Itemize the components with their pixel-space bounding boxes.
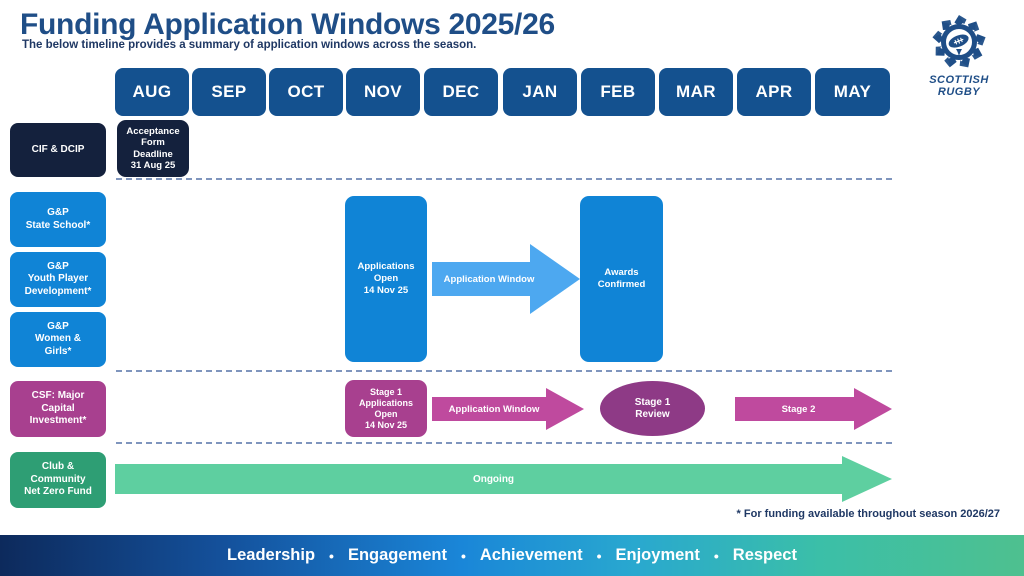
csf-stage1-review-line-2: Review (635, 409, 669, 420)
gp-awards-confirmed-box[interactable]: Awards Confirmed (580, 196, 663, 362)
acceptance-form-deadline-box[interactable]: Acceptance Form Deadline 31 Aug 25 (117, 120, 189, 177)
acceptance-line-2: Form (141, 137, 165, 148)
sidebar-label-gp-ypd-l3: Development* (25, 286, 92, 297)
gp-applications-open-line-1: Applications (357, 261, 414, 272)
acceptance-line-3: Deadline (133, 149, 173, 160)
sidebar-label-csf-l1: CSF: Major (32, 390, 85, 401)
gp-awards-confirmed-line-1: Awards (604, 267, 638, 278)
csf-stage1-line-3: Open (374, 409, 397, 419)
sidebar-label-gp-wg-l2: Women & (35, 333, 81, 344)
slide-canvas: Funding Application Windows 2025/26 The … (0, 0, 1024, 576)
csf-stage1-review-ellipse[interactable]: Stage 1 Review (600, 381, 705, 436)
footer-value-achievement: Achievement (480, 546, 583, 565)
footer-separator-dot-3: • (597, 549, 602, 563)
gp-applications-open-line-2: Open (374, 273, 398, 284)
logo-line-rugby: RUGBY (938, 86, 980, 98)
footer-separator-dot-2: • (461, 549, 466, 563)
csf-stage1-line-4: 14 Nov 25 (365, 420, 407, 430)
scottish-rugby-logo: SCOTTISH RUGBY (905, 12, 1013, 100)
footer-value-respect: Respect (733, 546, 797, 565)
page-title: Funding Application Windows 2025/26 (20, 8, 555, 42)
month-box-sep[interactable]: SEP (192, 68, 266, 116)
sidebar-item-gp-state-school[interactable]: G&P State School* (10, 192, 106, 247)
page-subtitle: The below timeline provides a summary of… (22, 39, 476, 51)
sidebar-label-netzero-l2: Community (31, 474, 86, 485)
month-box-oct[interactable]: OCT (269, 68, 343, 116)
sidebar-item-gp-youth-player-development[interactable]: G&P Youth Player Development* (10, 252, 106, 307)
csf-stage1-line-2: Applications (359, 398, 413, 408)
sidebar-label-netzero-l1: Club & (42, 461, 74, 472)
sidebar-label-cif-dcip: CIF & DCIP (32, 144, 85, 157)
acceptance-line-4: 31 Aug 25 (131, 160, 176, 171)
sidebar-item-cif-dcip[interactable]: CIF & DCIP (10, 123, 106, 177)
gp-awards-confirmed-line-2: Confirmed (598, 279, 646, 290)
footnote: * For funding available throughout seaso… (737, 508, 1000, 520)
gp-application-window-arrow[interactable]: Application Window (432, 244, 580, 314)
csf-stage2-arrow[interactable]: Stage 2 (735, 388, 892, 430)
month-box-apr[interactable]: APR (737, 68, 811, 116)
csf-stage1-applications-open-box[interactable]: Stage 1 Applications Open 14 Nov 25 (345, 380, 427, 437)
csf-stage1-line-1: Stage 1 (370, 387, 402, 397)
month-box-feb[interactable]: FEB (581, 68, 655, 116)
gp-applications-open-line-3: 14 Nov 25 (364, 285, 408, 296)
logo-wordmark: SCOTTISH RUGBY (905, 74, 1013, 98)
sidebar-label-csf-l2: Capital (41, 403, 74, 414)
sidebar-label-gp-wg-l3: Girls* (45, 346, 72, 357)
sidebar-item-club-community-net-zero-fund[interactable]: Club & Community Net Zero Fund (10, 452, 106, 508)
sidebar-label-netzero-l3: Net Zero Fund (24, 486, 92, 497)
netzero-ongoing-arrow[interactable]: Ongoing (115, 456, 892, 502)
footer-value-enjoyment: Enjoyment (616, 546, 700, 565)
footer-separator-dot-1: • (329, 549, 334, 563)
footer-value-leadership: Leadership (227, 546, 315, 565)
row-separator-3 (116, 442, 892, 444)
sidebar-label-gp-state-school-l2: State School* (26, 220, 90, 231)
sidebar-item-csf-major-capital-investment[interactable]: CSF: Major Capital Investment* (10, 381, 106, 437)
month-box-dec[interactable]: DEC (424, 68, 498, 116)
gp-applications-open-box[interactable]: Applications Open 14 Nov 25 (345, 196, 427, 362)
month-box-jan[interactable]: JAN (503, 68, 577, 116)
sidebar-item-gp-women-girls[interactable]: G&P Women & Girls* (10, 312, 106, 367)
month-box-mar[interactable]: MAR (659, 68, 733, 116)
footer-value-engagement: Engagement (348, 546, 447, 565)
sidebar-label-gp-ypd-l2: Youth Player (28, 273, 88, 284)
row-separator-1 (116, 178, 892, 180)
sidebar-label-gp-ypd-l1: G&P (47, 261, 69, 272)
month-box-may[interactable]: MAY (815, 68, 890, 116)
footer-separator-dot-4: • (714, 549, 719, 563)
sidebar-label-gp-state-school-l1: G&P (47, 207, 69, 218)
logo-line-scottish: SCOTTISH (929, 74, 989, 86)
csf-application-window-arrow[interactable]: Application Window (432, 388, 584, 430)
month-box-aug[interactable]: AUG (115, 68, 189, 116)
values-footer-bar: Leadership • Engagement • Achievement • … (0, 535, 1024, 576)
row-separator-2 (116, 370, 892, 372)
acceptance-line-1: Acceptance (126, 126, 179, 137)
month-box-nov[interactable]: NOV (346, 68, 420, 116)
sidebar-label-csf-l3: Investment* (30, 415, 87, 426)
csf-stage1-review-line-1: Stage 1 (635, 397, 671, 408)
sidebar-label-gp-wg-l1: G&P (47, 321, 69, 332)
